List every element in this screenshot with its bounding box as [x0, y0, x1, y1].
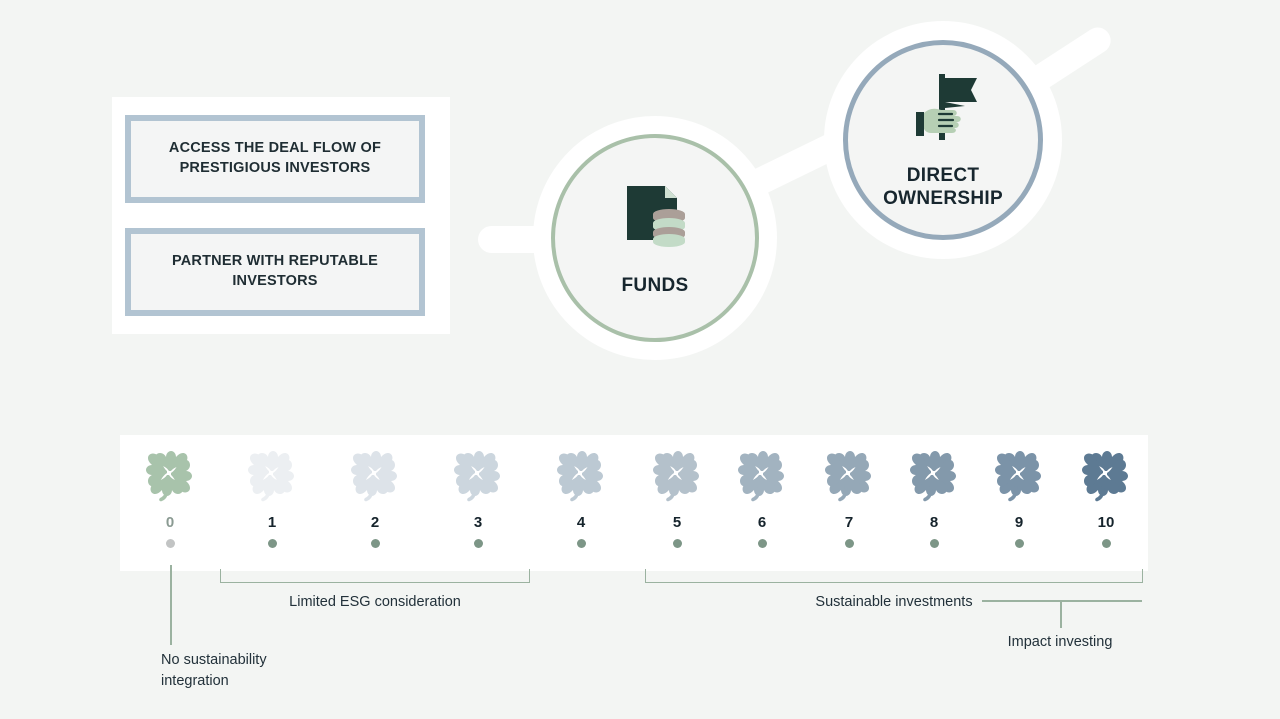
clover-icon [651, 447, 703, 505]
scale-item[interactable]: 5 [631, 447, 723, 548]
scale-dot [930, 539, 939, 548]
scale-item[interactable]: 4 [535, 447, 627, 548]
callout-line-no-sustainability [170, 565, 172, 645]
bracket-label-sustainable-investments: Sustainable investments [645, 594, 1143, 610]
scale-dot [371, 539, 380, 548]
scale-item[interactable]: 0 [124, 447, 216, 548]
clover-icon [823, 447, 875, 505]
bracket-limited-esg [220, 569, 530, 583]
scale-item[interactable]: 7 [803, 447, 895, 548]
bracket-impact-investing-line [982, 600, 1142, 602]
scale-dot [845, 539, 854, 548]
node-funds[interactable]: FUNDS [533, 116, 777, 360]
scale-dot [474, 539, 483, 548]
clover-icon [349, 447, 401, 505]
scale-item[interactable]: 6 [716, 447, 808, 548]
scale-number: 5 [673, 515, 681, 530]
scale-number: 9 [1015, 515, 1023, 530]
scale-dot [758, 539, 767, 548]
node-direct-ownership-label: DIRECT OWNERSHIP [883, 165, 1003, 210]
scale-item[interactable]: 3 [432, 447, 524, 548]
scale-number: 10 [1098, 515, 1115, 530]
benefit-box-access-deal-flow[interactable]: ACCESS THE DEAL FLOW OF PRESTIGIOUS INVE… [125, 115, 425, 203]
bracket-label-limited-esg: Limited ESG consideration [220, 594, 530, 610]
scale-item[interactable]: 2 [329, 447, 421, 548]
scale-number: 0 [166, 515, 174, 530]
scale-dot [577, 539, 586, 548]
document-coins-icon [617, 178, 693, 259]
node-direct-ownership-label-line1: DIRECT [883, 165, 1003, 187]
node-funds-label: FUNDS [622, 275, 689, 297]
node-direct-ownership[interactable]: DIRECT OWNERSHIP [824, 21, 1062, 259]
clover-icon [144, 447, 196, 505]
scale-number: 6 [758, 515, 766, 530]
sustainability-scale-row: 012345678910 [120, 435, 1148, 571]
clover-icon [452, 447, 504, 505]
clover-icon [993, 447, 1045, 505]
bracket-label-impact-investing: Impact investing [960, 634, 1160, 650]
scale-item[interactable]: 1 [226, 447, 318, 548]
clover-icon [736, 447, 788, 505]
benefits-panel: ACCESS THE DEAL FLOW OF PRESTIGIOUS INVE… [112, 97, 450, 334]
scale-item[interactable]: 10 [1060, 447, 1152, 548]
node-direct-ownership-label-line2: OWNERSHIP [883, 188, 1003, 210]
scale-number: 3 [474, 515, 482, 530]
clover-icon [1080, 447, 1132, 505]
scale-number: 7 [845, 515, 853, 530]
clover-icon [908, 447, 960, 505]
bracket-sustainable-investments [645, 569, 1143, 583]
scale-dot [1102, 539, 1111, 548]
scale-item[interactable]: 8 [888, 447, 980, 548]
scale-item[interactable]: 9 [973, 447, 1065, 548]
scale-dot [1015, 539, 1024, 548]
diagram-stage: ACCESS THE DEAL FLOW OF PRESTIGIOUS INVE… [0, 0, 1280, 719]
sustainability-scale-panel: 012345678910 [120, 435, 1148, 571]
node-direct-ownership-inner: DIRECT OWNERSHIP [843, 40, 1043, 240]
scale-number: 4 [577, 515, 585, 530]
clover-icon [246, 447, 298, 505]
scale-dot [166, 539, 175, 548]
bracket-impact-investing-tick [1060, 600, 1062, 628]
clover-icon [555, 447, 607, 505]
scale-number: 2 [371, 515, 379, 530]
benefit-box-label: PARTNER WITH REPUTABLE INVESTORS [131, 252, 419, 291]
callout-label-no-sustainability: No sustainability integration [161, 650, 267, 692]
benefit-box-partner-reputable[interactable]: PARTNER WITH REPUTABLE INVESTORS [125, 228, 425, 316]
scale-number: 8 [930, 515, 938, 530]
benefit-box-label: ACCESS THE DEAL FLOW OF PRESTIGIOUS INVE… [131, 139, 419, 178]
hand-flag-icon [903, 70, 983, 155]
scale-dot [268, 539, 277, 548]
scale-number: 1 [268, 515, 276, 530]
scale-dot [673, 539, 682, 548]
node-funds-inner: FUNDS [551, 134, 759, 342]
